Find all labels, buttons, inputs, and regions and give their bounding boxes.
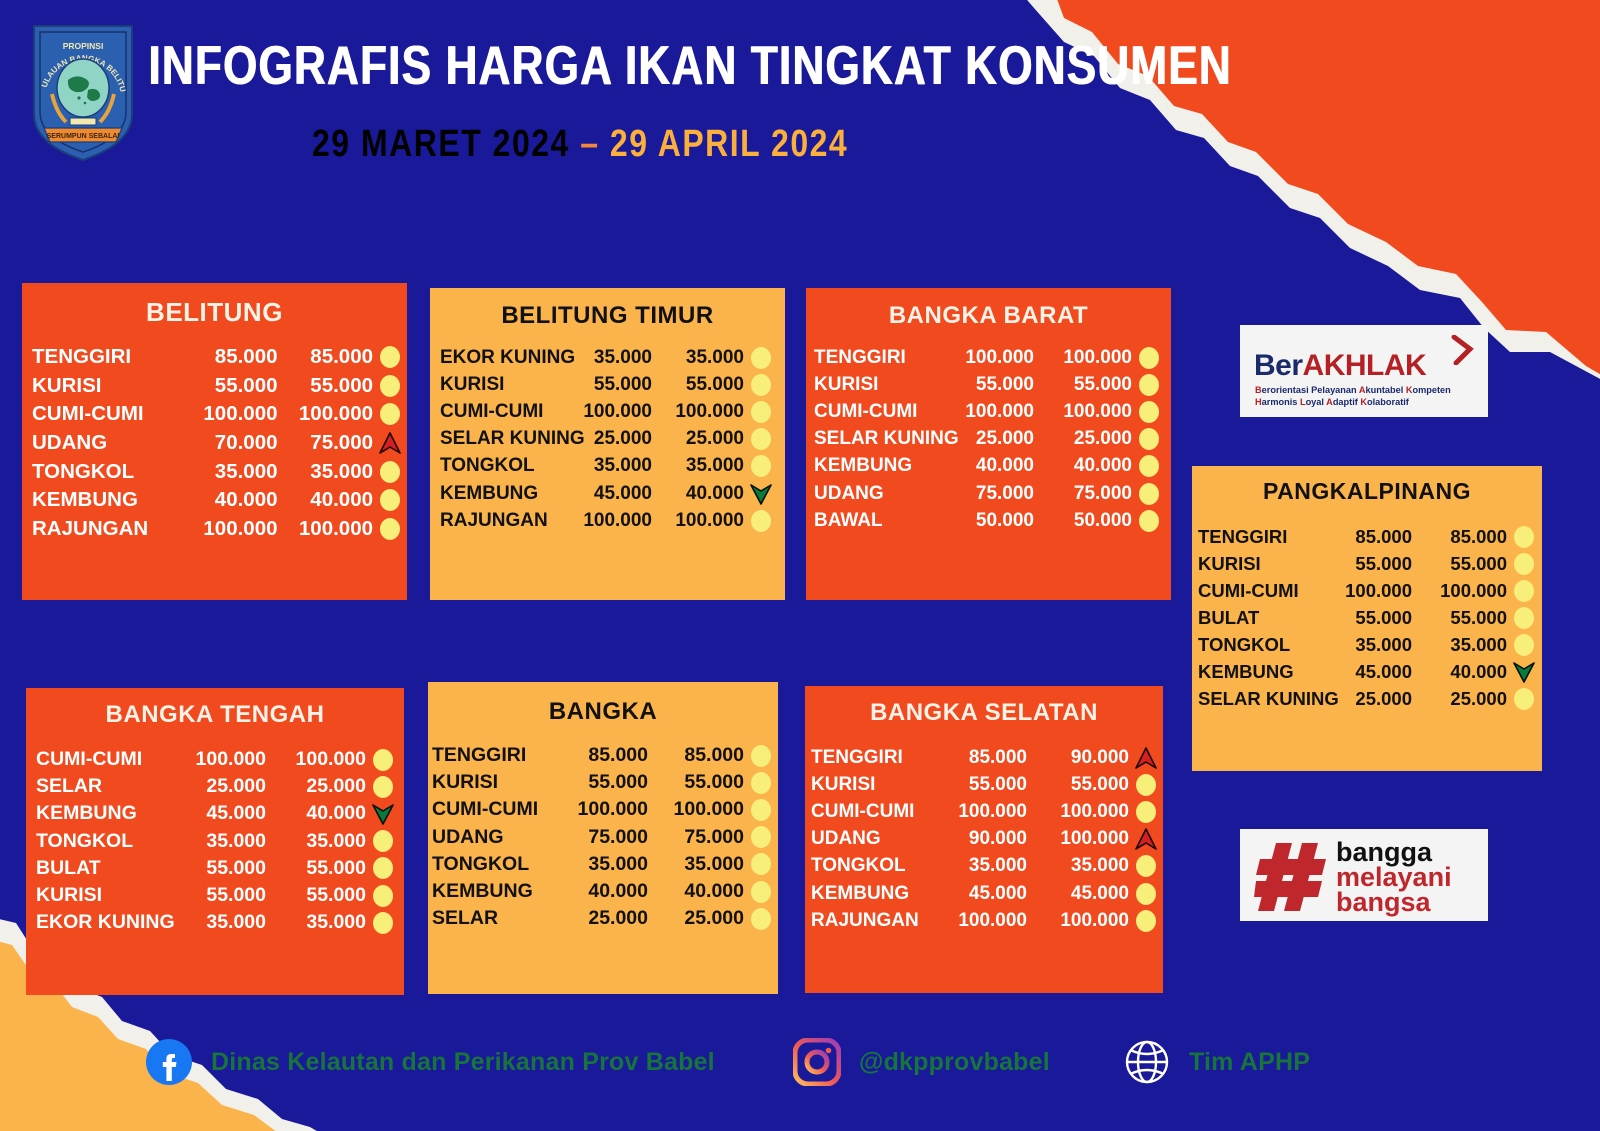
fish-name: KEMBUNG (432, 880, 552, 903)
price-previous: 85.000 (1317, 526, 1412, 548)
price-previous: 85.000 (182, 345, 278, 369)
price-trend-indicator (744, 853, 778, 875)
table-row: TONGKOL35.00035.000 (805, 853, 1163, 880)
berakhlak-prefix: Ber (1254, 349, 1303, 382)
price-trend-indicator (373, 489, 407, 511)
bangga-line-3: bangsa (1336, 890, 1452, 915)
indicator-stable-dot (1136, 883, 1156, 905)
price-current: 55.000 (652, 374, 744, 396)
table-row: BAWAL50.00050.000 (806, 507, 1171, 534)
price-current: 35.000 (652, 455, 744, 477)
price-previous: 35.000 (552, 853, 648, 876)
price-current: 100.000 (1412, 580, 1507, 602)
price-trend-indicator (366, 776, 400, 798)
price-trend-indicator (1507, 526, 1541, 548)
indicator-stable-dot (751, 853, 771, 875)
price-previous: 75.000 (552, 826, 648, 849)
indicator-stable-dot (373, 912, 393, 934)
table-row: SELAR KUNING25.00025.000 (806, 426, 1171, 453)
hashtag-icon (1254, 843, 1328, 911)
price-current: 100.000 (1027, 910, 1129, 932)
price-trend-indicator (1129, 774, 1163, 796)
card-title-belitung-timur: BELITUNG TIMUR (430, 302, 785, 330)
indicator-stable-dot (751, 455, 771, 477)
price-previous: 55.000 (1317, 553, 1412, 575)
fish-name: BULAT (36, 857, 166, 880)
table-row: UDANG75.00075.000 (428, 824, 778, 851)
fish-name: KURISI (36, 884, 166, 907)
indicator-stable-dot (380, 375, 400, 397)
price-trend-indicator (1129, 883, 1163, 905)
table-row: KEMBUNG45.00045.000 (805, 880, 1163, 907)
table-row: KEMBUNG40.00040.000 (428, 878, 778, 905)
indicator-stable-dot (373, 776, 393, 798)
price-previous: 55.000 (182, 374, 278, 398)
indicator-up-arrow-icon (378, 431, 402, 455)
price-current: 35.000 (648, 853, 744, 876)
price-previous: 45.000 (166, 802, 266, 825)
table-row: BULAT55.00055.000 (26, 855, 404, 882)
price-previous: 55.000 (166, 884, 266, 907)
price-trend-indicator (744, 772, 778, 794)
card-rows-belitung: TENGGIRI85.00085.000KURISI55.00055.000CU… (22, 343, 407, 543)
price-previous: 55.000 (552, 771, 648, 794)
price-trend-indicator (1132, 347, 1166, 369)
price-trend-indicator (373, 403, 407, 425)
price-current: 100.000 (1027, 828, 1129, 850)
price-current: 100.000 (1034, 347, 1132, 369)
price-previous: 55.000 (166, 857, 266, 880)
facebook-icon[interactable] (145, 1038, 193, 1086)
table-row: SELAR KUNING25.00025.000 (430, 426, 785, 453)
price-current: 25.000 (1034, 428, 1132, 450)
price-current: 55.000 (278, 374, 374, 398)
price-current: 35.000 (1027, 855, 1129, 877)
fish-name: KEMBUNG (36, 802, 166, 825)
instagram-icon[interactable] (793, 1038, 841, 1086)
price-current: 85.000 (278, 345, 374, 369)
website-link[interactable]: Tim APHP (1123, 1038, 1310, 1086)
fish-name: KURISI (440, 374, 560, 396)
fish-name: KEMBUNG (1198, 661, 1317, 683)
fish-name: SELAR (36, 775, 166, 798)
indicator-stable-dot (380, 346, 400, 368)
price-trend-indicator (744, 881, 778, 903)
fish-name: TONGKOL (32, 460, 182, 484)
bangga-line-2: melayani (1336, 865, 1452, 890)
price-current: 25.000 (266, 775, 366, 798)
table-row: KEMBUNG40.00040.000 (22, 486, 407, 515)
fish-name: KURISI (32, 374, 182, 398)
indicator-stable-dot (1136, 855, 1156, 877)
price-previous: 70.000 (182, 431, 278, 455)
price-trend-indicator (744, 374, 778, 396)
price-trend-indicator (744, 799, 778, 821)
price-card-pangkalpinang: PANGKALPINANGTENGGIRI85.00085.000KURISI5… (1192, 466, 1542, 771)
fish-name: UDANG (814, 483, 936, 505)
price-trend-indicator (744, 401, 778, 423)
fish-name: TONGKOL (1198, 634, 1317, 656)
price-current: 35.000 (266, 830, 366, 853)
price-trend-indicator (1129, 801, 1163, 823)
card-title-bangka-selatan: BANGKA SELATAN (805, 699, 1163, 727)
price-current: 40.000 (1412, 661, 1507, 683)
fish-name: KURISI (811, 774, 925, 796)
table-row: RAJUNGAN100.000100.000 (430, 507, 785, 534)
fish-name: TENGGIRI (814, 347, 936, 369)
price-trend-indicator (1507, 688, 1541, 710)
fish-name: RAJUNGAN (32, 517, 182, 541)
price-trend-indicator (1507, 607, 1541, 629)
price-current: 35.000 (278, 460, 374, 484)
price-card-bangka-barat: BANGKA BARATTENGGIRI100.000100.000KURISI… (806, 288, 1171, 600)
price-current: 100.000 (652, 510, 744, 532)
price-previous: 100.000 (925, 801, 1027, 823)
price-previous: 35.000 (182, 460, 278, 484)
price-previous: 100.000 (925, 910, 1027, 932)
price-current: 40.000 (266, 802, 366, 825)
price-trend-indicator (373, 375, 407, 397)
price-trend-indicator (1129, 746, 1163, 770)
fish-name: CUMI-CUMI (32, 402, 182, 426)
price-trend-indicator (373, 518, 407, 540)
indicator-stable-dot (751, 826, 771, 848)
fish-name: TENGGIRI (32, 345, 182, 369)
indicator-stable-dot (751, 374, 771, 396)
indicator-stable-dot (1514, 634, 1534, 656)
price-trend-indicator (1132, 483, 1166, 505)
card-title-bangka-tengah: BANGKA TENGAH (26, 701, 404, 729)
price-previous: 35.000 (166, 911, 266, 934)
fish-name: TENGGIRI (811, 747, 925, 769)
indicator-stable-dot (373, 830, 393, 852)
price-current: 75.000 (278, 431, 374, 455)
fish-name: KEMBUNG (811, 883, 925, 905)
price-previous: 25.000 (560, 428, 652, 450)
price-previous: 45.000 (925, 883, 1027, 905)
price-trend-indicator (744, 455, 778, 477)
price-current: 55.000 (648, 771, 744, 794)
price-trend-indicator (366, 802, 400, 826)
indicator-down-arrow-icon (371, 802, 395, 826)
price-current: 40.000 (652, 483, 744, 505)
price-current: 55.000 (1412, 553, 1507, 575)
instagram-link[interactable]: @dkpprovbabel (793, 1038, 1050, 1086)
fish-name: KURISI (432, 771, 552, 794)
price-trend-indicator (744, 428, 778, 450)
table-row: KURISI55.00055.000 (806, 371, 1171, 398)
table-row: KURISI55.00055.000 (428, 769, 778, 796)
price-trend-indicator (1132, 374, 1166, 396)
table-row: TENGGIRI100.000100.000 (806, 344, 1171, 371)
table-row: TENGGIRI85.00090.000 (805, 744, 1163, 771)
fish-name: CUMI-CUMI (811, 801, 925, 823)
table-row: UDANG90.000100.000 (805, 826, 1163, 853)
indicator-stable-dot (1139, 374, 1159, 396)
price-previous: 100.000 (182, 402, 278, 426)
price-current: 100.000 (1034, 401, 1132, 423)
table-row: TONGKOL35.00035.000 (1192, 632, 1542, 659)
fish-name: KURISI (1198, 553, 1317, 575)
fish-name: CUMI-CUMI (814, 401, 936, 423)
indicator-stable-dot (1139, 428, 1159, 450)
indicator-stable-dot (1136, 801, 1156, 823)
instagram-label: @dkpprovbabel (859, 1048, 1050, 1077)
indicator-stable-dot (380, 489, 400, 511)
fish-name: TONGKOL (811, 855, 925, 877)
indicator-stable-dot (751, 401, 771, 423)
svg-text:SERUMPUN SEBALAI: SERUMPUN SEBALAI (47, 133, 120, 140)
fish-name: KEMBUNG (814, 455, 936, 477)
indicator-stable-dot (1139, 510, 1159, 532)
price-trend-indicator (1129, 910, 1163, 932)
price-trend-indicator (1507, 660, 1541, 684)
indicator-stable-dot (373, 749, 393, 771)
price-trend-indicator (373, 461, 407, 483)
fish-name: EKOR KUNING (36, 911, 166, 934)
fish-name: CUMI-CUMI (432, 798, 552, 821)
price-trend-indicator (744, 482, 778, 506)
table-row: CUMI-CUMI100.000100.000 (22, 400, 407, 429)
indicator-stable-dot (1514, 580, 1534, 602)
table-row: SELAR25.00025.000 (428, 905, 778, 932)
price-current: 55.000 (1027, 774, 1129, 796)
indicator-stable-dot (751, 881, 771, 903)
table-row: CUMI-CUMI100.000100.000 (806, 398, 1171, 425)
facebook-label: Dinas Kelautan dan Perikanan Prov Babel (211, 1048, 715, 1077)
indicator-stable-dot (1139, 347, 1159, 369)
price-card-bangka: BANGKATENGGIRI85.00085.000KURISI55.00055… (428, 682, 778, 994)
price-previous: 40.000 (936, 455, 1034, 477)
price-current: 40.000 (648, 880, 744, 903)
price-trend-indicator (744, 347, 778, 369)
fish-name: RAJUNGAN (811, 910, 925, 932)
price-card-belitung-timur: BELITUNG TIMUREKOR KUNING35.00035.000KUR… (430, 288, 785, 600)
price-previous: 55.000 (925, 774, 1027, 796)
table-row: KURISI55.00055.000 (26, 882, 404, 909)
price-current: 40.000 (1034, 455, 1132, 477)
price-trend-indicator (1507, 634, 1541, 656)
price-previous: 90.000 (925, 828, 1027, 850)
price-previous: 25.000 (1317, 688, 1412, 710)
date-range: 29 MARET 2024 – 29 APRIL 2024 (312, 122, 848, 166)
price-previous: 75.000 (936, 483, 1034, 505)
price-previous: 100.000 (552, 798, 648, 821)
indicator-stable-dot (1136, 774, 1156, 796)
price-current: 55.000 (266, 884, 366, 907)
price-current: 100.000 (652, 401, 744, 423)
fish-name: CUMI-CUMI (440, 401, 560, 423)
fish-name: KURISI (814, 374, 936, 396)
indicator-stable-dot (380, 461, 400, 483)
fish-name: SELAR (432, 907, 552, 930)
price-trend-indicator (366, 830, 400, 852)
fish-name: BAWAL (814, 510, 936, 532)
price-trend-indicator (1129, 827, 1163, 851)
fish-name: TONGKOL (440, 455, 560, 477)
indicator-stable-dot (380, 518, 400, 540)
table-row: CUMI-CUMI100.000100.000 (428, 796, 778, 823)
indicator-stable-dot (751, 799, 771, 821)
date-to: 29 APRIL 2024 (610, 122, 848, 164)
price-trend-indicator (1132, 401, 1166, 423)
price-previous: 100.000 (182, 517, 278, 541)
berakhlak-chevron-icon (1450, 335, 1476, 365)
table-row: KEMBUNG40.00040.000 (806, 453, 1171, 480)
price-previous: 50.000 (936, 510, 1034, 532)
fish-name: TONGKOL (432, 853, 552, 876)
price-previous: 100.000 (936, 347, 1034, 369)
table-row: TONGKOL35.00035.000 (22, 457, 407, 486)
price-card-bangka-selatan: BANGKA SELATANTENGGIRI85.00090.000KURISI… (805, 686, 1163, 993)
card-title-pangkalpinang: PANGKALPINANG (1192, 478, 1542, 505)
fish-name: SELAR KUNING (1198, 688, 1317, 710)
indicator-down-arrow-icon (749, 482, 773, 506)
price-current: 35.000 (1412, 634, 1507, 656)
price-previous: 25.000 (552, 907, 648, 930)
card-title-belitung: BELITUNG (22, 297, 407, 328)
price-current: 40.000 (278, 488, 374, 512)
price-trend-indicator (1132, 428, 1166, 450)
table-row: CUMI-CUMI100.000100.000 (805, 798, 1163, 825)
fish-name: TENGGIRI (432, 744, 552, 767)
svg-text:PROPINSI: PROPINSI (63, 41, 104, 51)
price-previous: 35.000 (166, 830, 266, 853)
card-title-bangka-barat: BANGKA BARAT (806, 302, 1171, 330)
table-row: KEMBUNG45.00040.000 (430, 480, 785, 507)
price-current: 100.000 (278, 402, 374, 426)
price-previous: 100.000 (1317, 580, 1412, 602)
price-current: 45.000 (1027, 883, 1129, 905)
table-row: EKOR KUNING35.00035.000 (430, 344, 785, 371)
facebook-link[interactable]: Dinas Kelautan dan Perikanan Prov Babel (145, 1038, 715, 1086)
price-current: 35.000 (266, 911, 366, 934)
date-dash: – (580, 122, 599, 164)
indicator-stable-dot (1139, 483, 1159, 505)
website-label: Tim APHP (1189, 1048, 1310, 1077)
price-previous: 25.000 (166, 775, 266, 798)
fish-name: CUMI-CUMI (36, 748, 166, 771)
price-current: 75.000 (648, 826, 744, 849)
indicator-stable-dot (1139, 455, 1159, 477)
fish-name: EKOR KUNING (440, 347, 560, 369)
indicator-stable-dot (1514, 526, 1534, 548)
price-previous: 100.000 (560, 401, 652, 423)
price-trend-indicator (366, 885, 400, 907)
table-row: TENGGIRI85.00085.000 (1192, 524, 1542, 551)
price-previous: 40.000 (182, 488, 278, 512)
price-trend-indicator (744, 510, 778, 532)
table-row: TENGGIRI85.00085.000 (22, 343, 407, 372)
indicator-stable-dot (1514, 607, 1534, 629)
price-current: 25.000 (648, 907, 744, 930)
table-row: RAJUNGAN100.000100.000 (22, 515, 407, 544)
price-current: 100.000 (1027, 801, 1129, 823)
card-rows-bangka-selatan: TENGGIRI85.00090.000KURISI55.00055.000CU… (805, 744, 1163, 934)
price-current: 90.000 (1027, 747, 1129, 769)
fish-name: TENGGIRI (1198, 526, 1317, 548)
indicator-stable-dot (751, 908, 771, 930)
price-current: 85.000 (1412, 526, 1507, 548)
indicator-stable-dot (751, 428, 771, 450)
price-trend-indicator (373, 431, 407, 455)
indicator-up-arrow-icon (1134, 827, 1158, 851)
card-rows-pangkalpinang: TENGGIRI85.00085.000KURISI55.00055.000CU… (1192, 524, 1542, 712)
table-row: UDANG75.00075.000 (806, 480, 1171, 507)
price-trend-indicator (1129, 855, 1163, 877)
price-previous: 45.000 (560, 483, 652, 505)
indicator-stable-dot (1136, 910, 1156, 932)
fish-name: KEMBUNG (440, 483, 560, 505)
price-current: 100.000 (266, 748, 366, 771)
table-row: CUMI-CUMI100.000100.000 (430, 398, 785, 425)
price-trend-indicator (1132, 510, 1166, 532)
fish-name: UDANG (811, 828, 925, 850)
price-previous: 55.000 (1317, 607, 1412, 629)
table-row: KURISI55.00055.000 (430, 371, 785, 398)
fish-name: SELAR KUNING (440, 428, 560, 450)
price-current: 55.000 (1412, 607, 1507, 629)
price-current: 75.000 (1034, 483, 1132, 505)
price-previous: 45.000 (1317, 661, 1412, 683)
price-previous: 25.000 (936, 428, 1034, 450)
price-card-belitung: BELITUNGTENGGIRI85.00085.000KURISI55.000… (22, 283, 407, 600)
table-row: EKOR KUNING35.00035.000 (26, 909, 404, 936)
table-row: KURISI55.00055.000 (1192, 551, 1542, 578)
table-row: SELAR25.00025.000 (26, 773, 404, 800)
price-previous: 85.000 (925, 747, 1027, 769)
fish-name: CUMI-CUMI (1198, 580, 1317, 602)
berakhlak-logo: BerAKHLAK Berorientasi Pelayanan Akuntab… (1240, 325, 1488, 417)
price-current: 100.000 (648, 798, 744, 821)
fish-name: BULAT (1198, 607, 1317, 629)
table-row: KURISI55.00055.000 (805, 771, 1163, 798)
price-trend-indicator (366, 857, 400, 879)
price-previous: 55.000 (560, 374, 652, 396)
price-current: 55.000 (1034, 374, 1132, 396)
price-current: 35.000 (652, 347, 744, 369)
card-rows-bangka: TENGGIRI85.00085.000KURISI55.00055.000CU… (428, 742, 778, 932)
price-trend-indicator (1132, 455, 1166, 477)
indicator-stable-dot (751, 745, 771, 767)
price-trend-indicator (1507, 553, 1541, 575)
card-rows-bangka-barat: TENGGIRI100.000100.000KURISI55.00055.000… (806, 344, 1171, 534)
bangga-melayani-bangsa-logo: bangga melayani bangsa (1240, 829, 1488, 921)
price-current: 25.000 (1412, 688, 1507, 710)
berakhlak-subline-1: Berorientasi Pelayanan Akuntabel Kompete… (1255, 385, 1451, 397)
provincial-emblem-icon: PROPINSI KEPULAUAN BANGKA BELITUNG SERUM… (30, 22, 136, 162)
price-previous: 35.000 (560, 455, 652, 477)
page-title: INFOGRAFIS HARGA IKAN TINGKAT KONSUMEN (148, 34, 1231, 97)
price-previous: 40.000 (552, 880, 648, 903)
table-row: BULAT55.00055.000 (1192, 605, 1542, 632)
price-previous: 100.000 (936, 401, 1034, 423)
price-previous: 85.000 (552, 744, 648, 767)
table-row: TONGKOL35.00035.000 (26, 828, 404, 855)
fish-name: UDANG (32, 431, 182, 455)
table-row: KEMBUNG45.00040.000 (1192, 658, 1542, 685)
price-previous: 35.000 (1317, 634, 1412, 656)
price-trend-indicator (1507, 580, 1541, 602)
price-trend-indicator (366, 749, 400, 771)
price-previous: 100.000 (560, 510, 652, 532)
card-rows-belitung-timur: EKOR KUNING35.00035.000KURISI55.00055.00… (430, 344, 785, 534)
globe-icon[interactable] (1123, 1038, 1171, 1086)
table-row: CUMI-CUMI100.000100.000 (26, 746, 404, 773)
infographic-page: PROPINSI KEPULAUAN BANGKA BELITUNG SERUM… (0, 0, 1600, 1131)
price-trend-indicator (744, 908, 778, 930)
price-card-bangka-tengah: BANGKA TENGAHCUMI-CUMI100.000100.000SELA… (26, 688, 404, 995)
